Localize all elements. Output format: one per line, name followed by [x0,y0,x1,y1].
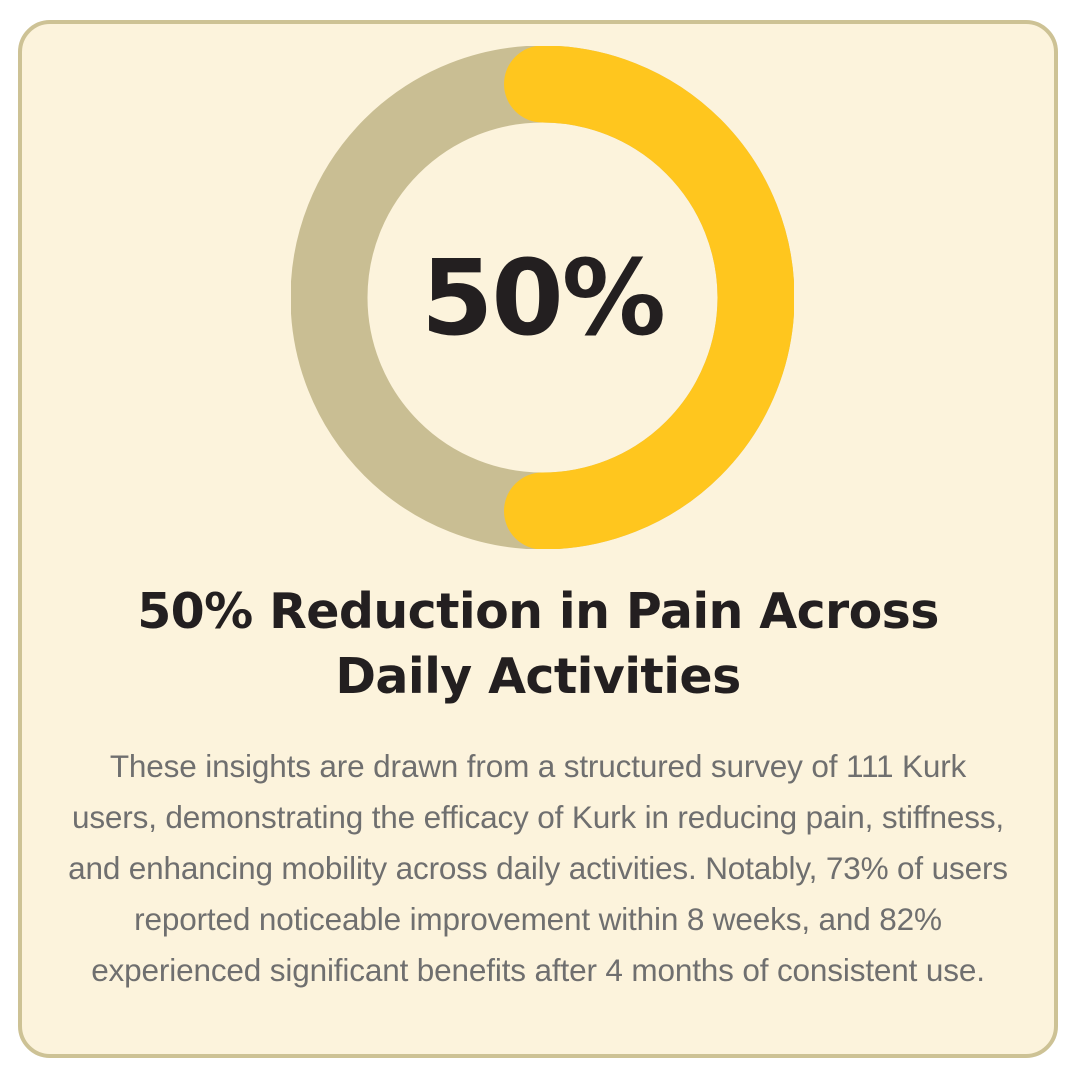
gauge-center-value: 50% [291,46,794,549]
donut-progress-gauge: 50% [291,46,794,549]
stat-card: 50% 50% Reduction in Pain Across Daily A… [18,20,1058,1058]
description-text: These insights are drawn from a structur… [67,741,1009,996]
page-title: 50% Reduction in Pain Across Daily Activ… [108,580,968,709]
card-content: 50% Reduction in Pain Across Daily Activ… [22,580,1054,996]
